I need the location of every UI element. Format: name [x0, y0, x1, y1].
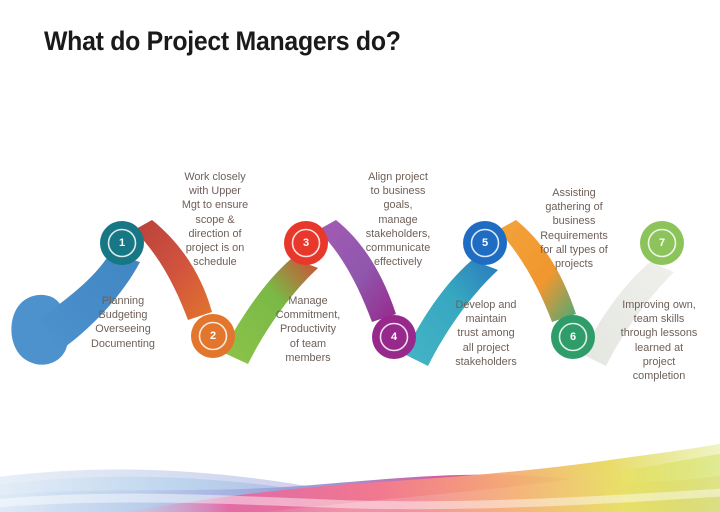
node-circle-2[interactable]	[191, 314, 235, 358]
node-circle-1[interactable]	[100, 221, 144, 265]
node-circle-7[interactable]	[640, 221, 684, 265]
node-circle-6[interactable]	[551, 315, 595, 359]
step-label-4: Align project to business goals, manage …	[345, 170, 452, 269]
footer-wave-decoration	[0, 442, 720, 512]
step-label-5: Develop and maintain trust among all pro…	[432, 298, 541, 369]
slide-canvas: What do Project Managers do?	[0, 0, 720, 512]
step-label-3: Manage Commitment, Productivity of team …	[252, 294, 365, 365]
step-label-2: Work closely with Upper Mgt to ensure sc…	[164, 170, 267, 269]
step-label-7: Improving own, team skills through lesso…	[602, 298, 716, 383]
step-label-6: Assisting gathering of business Requirem…	[520, 186, 629, 271]
node-circle-5[interactable]	[463, 221, 507, 265]
node-circle-3[interactable]	[284, 221, 328, 265]
step-label-1: Planning Budgeting Overseeing Documentin…	[64, 294, 182, 351]
node-circle-4[interactable]	[372, 315, 416, 359]
